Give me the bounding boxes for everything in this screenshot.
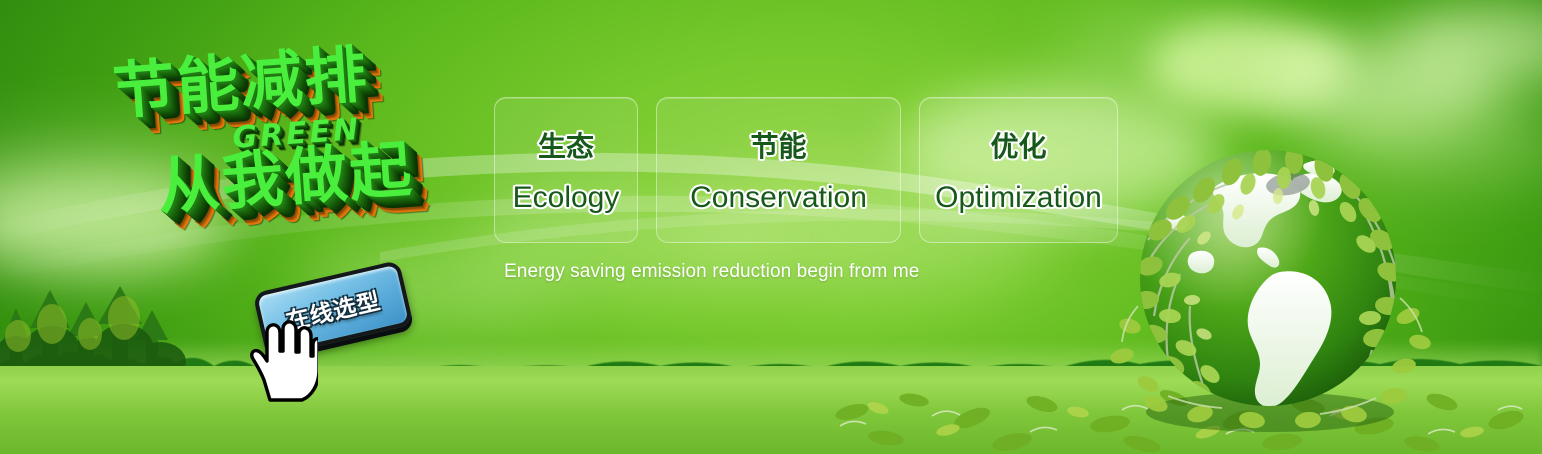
feature-card-conservation[interactable]: 节能 Conservation bbox=[656, 97, 901, 243]
eco-banner: 节能减排 GREEN 从我做起 在线选型 生态 Ecology 节能 Conse… bbox=[0, 0, 1542, 454]
cloud-icon bbox=[1148, 20, 1348, 112]
feature-card-cn-label: 优化 bbox=[990, 125, 1046, 165]
cloud-icon bbox=[1060, 14, 1260, 84]
feature-card-en-label: Conservation bbox=[690, 181, 867, 215]
feature-card-en-label: Optimization bbox=[935, 181, 1102, 215]
leafy-earth-globe-icon bbox=[1108, 120, 1438, 450]
headline-3d: 节能减排 GREEN 从我做起 bbox=[100, 29, 507, 286]
feature-card-cn-label: 生态 bbox=[538, 125, 594, 165]
feature-card-cn-label: 节能 bbox=[750, 125, 806, 165]
online-selection-button-label: 在线选型 bbox=[282, 282, 383, 337]
feature-card-en-label: Ecology bbox=[513, 181, 620, 215]
feature-card-list: 生态 Ecology 节能 Conservation 优化 Optimizati… bbox=[494, 97, 1118, 243]
headline-line2: 从我做起 bbox=[156, 138, 416, 218]
feature-card-ecology[interactable]: 生态 Ecology bbox=[494, 97, 638, 243]
tagline: Energy saving emission reduction begin f… bbox=[504, 261, 919, 283]
headline-line1: 节能减排 bbox=[111, 43, 371, 123]
cloud-icon bbox=[1398, 4, 1542, 84]
feature-card-optimization[interactable]: 优化 Optimization bbox=[919, 97, 1118, 243]
